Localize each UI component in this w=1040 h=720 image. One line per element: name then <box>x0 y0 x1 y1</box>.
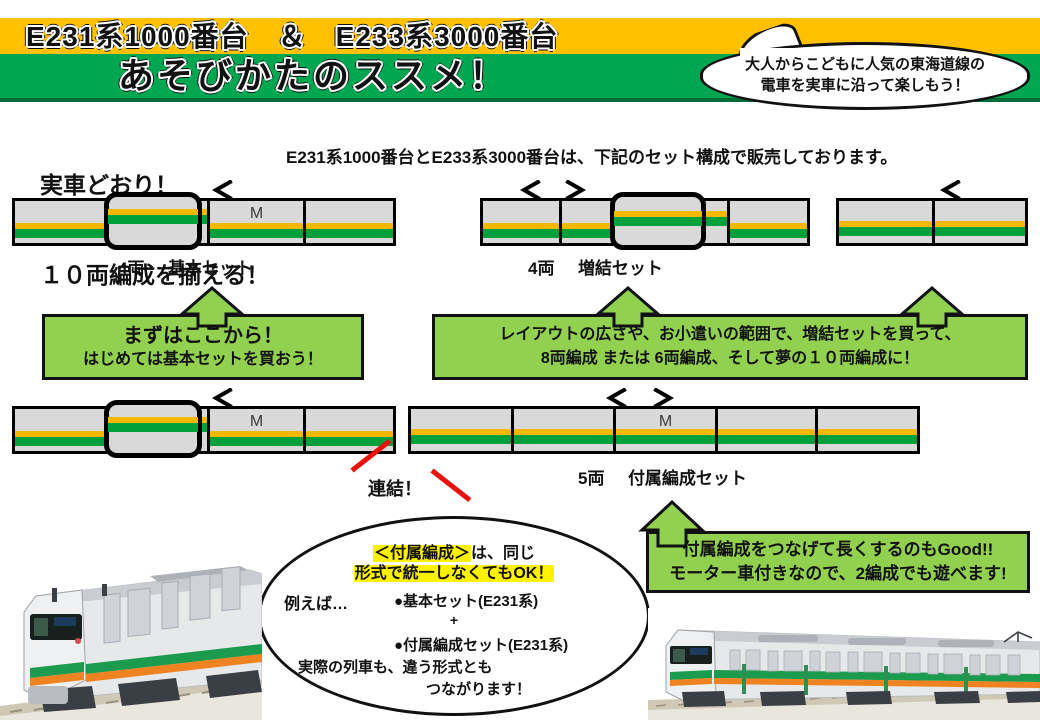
oval-line2: 形式で統一しなくてもOK！ <box>258 559 650 583</box>
attached-car-1 <box>411 409 511 451</box>
row2-basic-highlight-car <box>104 400 202 458</box>
up-arrow-extra-icon <box>898 286 966 328</box>
stripe-green <box>935 227 1025 236</box>
oval-bullet1: ●基本セット(E231系) <box>394 590 538 611</box>
basic-set-name: 基本セット <box>168 259 253 278</box>
intro-text: E231系1000番台とE233系3000番台は、下記のセット構成で販売しており… <box>286 143 897 168</box>
stripe-green <box>411 435 511 444</box>
pantograph-icon <box>204 180 238 202</box>
up-arrow-addon-icon <box>594 286 662 328</box>
stripe-green <box>616 435 715 444</box>
oval-bullet2: ●付属編成セット(E231系) <box>394 634 568 655</box>
pantograph-icon <box>648 388 682 410</box>
oval-footer1: 実際の列車も、違う形式とも <box>298 656 493 677</box>
attached-set-name: 付属編成セット <box>628 469 747 488</box>
stripe-green <box>210 437 303 446</box>
train-photo-left <box>0 540 262 720</box>
oval-example-label: 例えば… <box>284 590 348 614</box>
top-speech-bubble: 大人からこどもに人気の東海道線の 電車を実車に沿って楽しもう！ <box>700 32 1030 110</box>
motor-car-mark: M <box>210 413 303 431</box>
up-arrow-basic-icon <box>178 286 246 328</box>
stripe-green <box>730 229 807 238</box>
stripe-green <box>514 435 613 444</box>
addon-set-highlight-car <box>610 192 706 250</box>
row2-basic-car-3: M <box>207 409 303 451</box>
basic-set-cars: 4両 <box>118 259 144 278</box>
stripe-green <box>718 435 815 444</box>
up-arrow-attached-icon <box>638 500 706 548</box>
speech-bubble-line2: 電車を実車に沿って楽しもう！ <box>714 75 1016 96</box>
stripe-green <box>15 229 111 238</box>
pantograph-icon <box>932 180 966 202</box>
extra-car-2 <box>932 201 1025 243</box>
addon-car-1 <box>483 201 559 243</box>
pantograph-icon <box>512 180 546 202</box>
greenbox-attach-line1: 付属編成をつなげて長くするのもGood!! <box>669 538 1006 562</box>
attached-car-4 <box>715 409 815 451</box>
stripe-green <box>108 423 198 432</box>
row2-basic-set-diagram: M <box>12 406 396 454</box>
stripe-green <box>108 215 198 224</box>
addon-set-label: 4両 増結セット <box>528 254 663 279</box>
basic-car-1 <box>15 201 111 243</box>
stripe-green <box>306 229 393 238</box>
addon-set-cars: 4両 <box>528 259 554 278</box>
speech-bubble-line1: 大人からこどもに人気の東海道線の <box>714 54 1016 75</box>
greenbox-attach-line2: モーター車付きなので、2編成でも遊べます! <box>669 562 1006 586</box>
stripe-green <box>15 437 111 446</box>
greenbox-start-line2: はじめては基本セットを買おう！ <box>83 349 323 371</box>
extra-car-1 <box>839 201 932 243</box>
attached-car-2 <box>511 409 613 451</box>
oval-footer2: つながります！ <box>426 678 531 699</box>
basic-car-3: M <box>207 201 303 243</box>
basic-set-label: 4両 基本セット <box>118 254 253 279</box>
greenbox-expand-line2: 8両編成 または 6両編成、そして夢の１０両編成に！ <box>499 347 960 371</box>
oval-plus: + <box>258 612 650 628</box>
extra-set-diagram <box>836 198 1028 246</box>
stripe-green <box>614 217 702 226</box>
coupling-label: 連結！ <box>368 475 422 501</box>
pantograph-icon <box>560 180 594 202</box>
pantograph-icon <box>598 388 632 410</box>
basic-set-diagram: M <box>12 198 396 246</box>
stripe-green <box>483 229 559 238</box>
addon-car-4 <box>727 201 807 243</box>
stripe-green <box>818 435 917 444</box>
attached-set-diagram: M <box>408 406 920 454</box>
stripe-green <box>839 227 932 236</box>
basic-car-4 <box>303 201 393 243</box>
greenbox-expand-line1: レイアウトの広さや、お小遣いの範囲で、増結セットを買って、 <box>499 323 960 347</box>
basic-set-highlight-car <box>104 192 202 250</box>
speech-bubble-text: 大人からこどもに人気の東海道線の 電車を実車に沿って楽しもう！ <box>714 54 1016 96</box>
train-photo-right <box>648 608 1040 720</box>
attached-car-5 <box>815 409 917 451</box>
attached-set-cars: 5両 <box>578 469 604 488</box>
oval-line2-highlight: 形式で統一しなくてもOK！ <box>354 565 555 582</box>
coupling-line-right <box>430 469 471 502</box>
note-oval-bubble: ＜付属編成＞は、同じ 形式で統一しなくてもOK！ 例えば… ●基本セット(E23… <box>258 516 650 716</box>
attached-car-3: M <box>613 409 715 451</box>
pantograph-icon <box>204 388 238 410</box>
motor-car-mark: M <box>210 205 303 223</box>
stripe-green <box>210 229 303 238</box>
attached-set-label: 5両 付属編成セット <box>578 464 747 489</box>
addon-set-name: 増結セット <box>578 259 663 278</box>
row2-basic-car-1 <box>15 409 111 451</box>
